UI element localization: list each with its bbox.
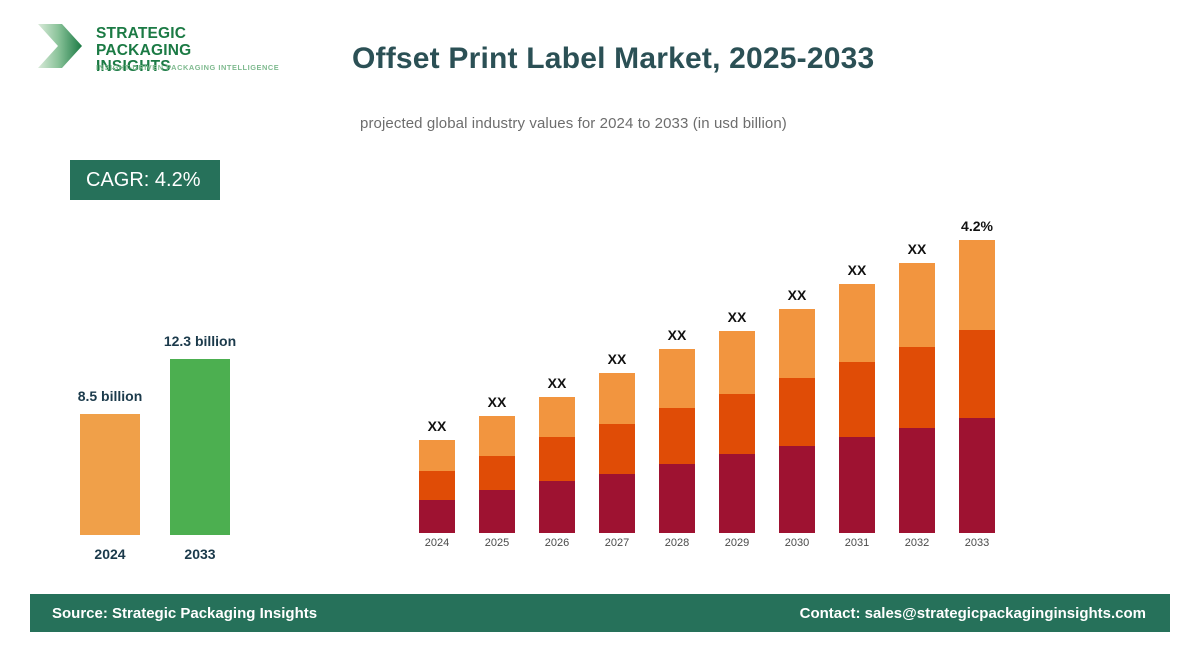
stacked-bar-segment-top xyxy=(959,240,995,330)
stacked-bar-value: XX xyxy=(762,287,832,303)
stacked-bar-value: 4.2% xyxy=(942,218,1012,234)
stacked-bar-value: XX xyxy=(882,241,952,257)
stacked-bar-segment-middle xyxy=(539,437,575,481)
stacked-bar-segment-top xyxy=(779,309,815,378)
stacked-bar: XX2030 xyxy=(779,0,815,533)
stacked-bar-value: XX xyxy=(462,394,532,410)
stacked-bar-segment-bottom xyxy=(539,481,575,533)
footer-bar: Source: Strategic Packaging Insights Con… xyxy=(30,594,1170,632)
stacked-bar-segment-bottom xyxy=(779,446,815,533)
stacked-axis-label: 2029 xyxy=(707,537,767,549)
stacked-bar-segment-bottom xyxy=(839,437,875,533)
stacked-bar-value: XX xyxy=(402,418,472,434)
stacked-axis-label: 2028 xyxy=(647,537,707,549)
segmented-forecast-chart: XX2024XX2025XX2026XX2027XX2028XX2029XX20… xyxy=(0,0,1200,580)
stacked-bar-segment-middle xyxy=(479,456,515,490)
stacked-bar-segment-bottom xyxy=(479,490,515,533)
stacked-axis-label: 2033 xyxy=(947,537,1007,549)
stacked-bar-segment-bottom xyxy=(719,454,755,533)
stacked-bar-segment-middle xyxy=(599,424,635,474)
stacked-bar-segment-top xyxy=(419,440,455,471)
stacked-axis-label: 2027 xyxy=(587,537,647,549)
stacked-bar: XX2026 xyxy=(539,0,575,533)
footer-contact: Contact: sales@strategicpackaginginsight… xyxy=(800,594,1146,632)
stacked-bar-segment-middle xyxy=(419,471,455,500)
stacked-bar: XX2027 xyxy=(599,0,635,533)
stacked-bar-segment-top xyxy=(899,263,935,347)
stacked-bar-segment-top xyxy=(839,284,875,362)
stacked-axis-label: 2032 xyxy=(887,537,947,549)
stacked-bar-segment-middle xyxy=(719,394,755,454)
stacked-axis-label: 2030 xyxy=(767,537,827,549)
stacked-bar-segment-bottom xyxy=(959,418,995,533)
stacked-bar: 4.2%2033 xyxy=(959,0,995,533)
stacked-axis-label: 2024 xyxy=(407,537,467,549)
stacked-bar: XX2032 xyxy=(899,0,935,533)
stacked-bar-value: XX xyxy=(702,309,772,325)
stacked-bar: XX2025 xyxy=(479,0,515,533)
stacked-bar-segment-top xyxy=(719,331,755,394)
stacked-bar-segment-bottom xyxy=(899,428,935,533)
stacked-bar-segment-middle xyxy=(959,330,995,418)
stacked-bar-segment-top xyxy=(599,373,635,424)
stacked-bar-segment-middle xyxy=(899,347,935,428)
stacked-bar-value: XX xyxy=(642,327,712,343)
stacked-axis-label: 2026 xyxy=(527,537,587,549)
stacked-bar-segment-middle xyxy=(659,408,695,464)
stacked-bar-segment-bottom xyxy=(419,500,455,533)
stacked-bar-segment-top xyxy=(539,397,575,437)
stacked-bar: XX2031 xyxy=(839,0,875,533)
stacked-bar-segment-bottom xyxy=(659,464,695,533)
stacked-axis-label: 2031 xyxy=(827,537,887,549)
stacked-bar: XX2024 xyxy=(419,0,455,533)
stacked-bar-segment-top xyxy=(479,416,515,456)
stacked-bar: XX2028 xyxy=(659,0,695,533)
stacked-bar-segment-top xyxy=(659,349,695,408)
stacked-axis-label: 2025 xyxy=(467,537,527,549)
stacked-bar-value: XX xyxy=(822,262,892,278)
stacked-bar-segment-middle xyxy=(779,378,815,446)
stacked-bar-segment-bottom xyxy=(599,474,635,533)
stacked-bar-value: XX xyxy=(522,375,592,391)
footer-source: Source: Strategic Packaging Insights xyxy=(52,594,317,632)
stacked-bar-segment-middle xyxy=(839,362,875,437)
stacked-bar-value: XX xyxy=(582,351,652,367)
stacked-bar: XX2029 xyxy=(719,0,755,533)
